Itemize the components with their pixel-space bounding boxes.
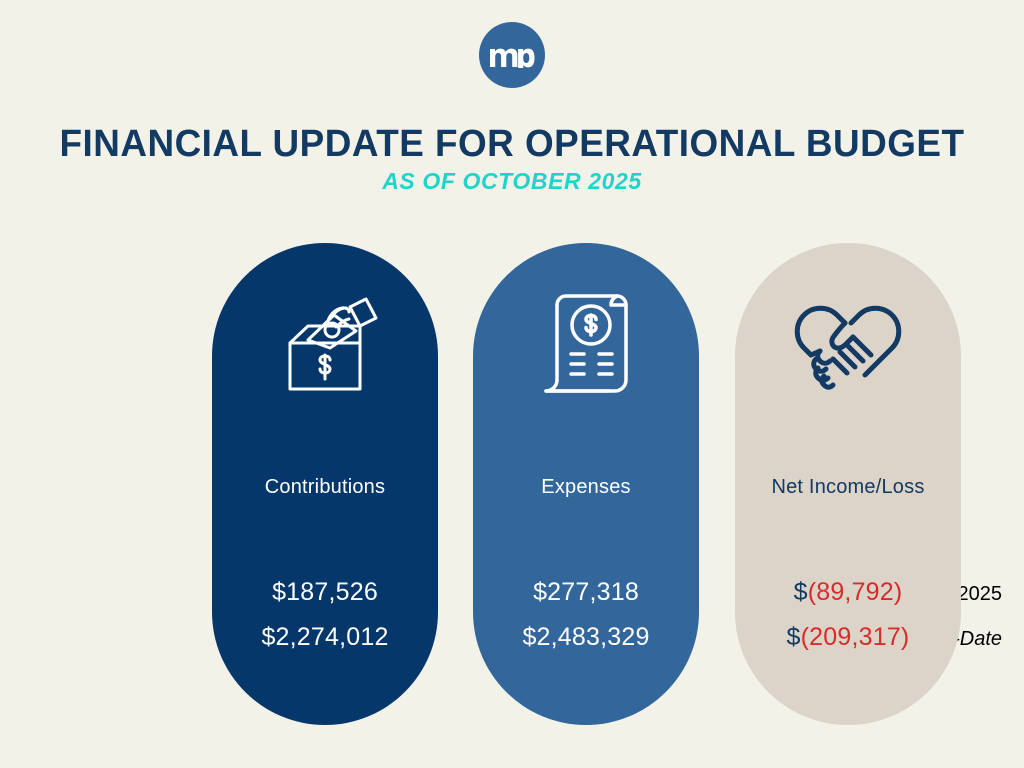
metric-columns: Contributions $187,526 $2,274,012 [0,243,1024,725]
metric-label-net-income: Net Income/Loss [735,476,961,499]
metric-value-net-income-ytd: $(209,317) [735,623,961,652]
metric-value-contributions-ytd: $2,274,012 [212,623,438,652]
metric-value-expenses-october: $277,318 [473,578,699,607]
donation-box-hand-icon [212,281,438,406]
page-title: FINANCIAL UPDATE FOR OPERATIONAL BUDGET [15,125,1008,165]
negative-amount: (89,792) [808,578,903,606]
metric-value-net-income-october: $(89,792) [735,578,961,607]
mpc-logo-circle [479,22,545,88]
currency-symbol: $ [794,578,808,606]
handshake-heart-icon [735,281,961,406]
metric-column-expenses: Expenses $277,318 $2,483,329 [473,243,699,725]
negative-amount: (209,317) [801,623,910,651]
metric-label-contributions: Contributions [212,476,438,499]
metric-value-expenses-ytd: $2,483,329 [473,623,699,652]
brand-logo [0,22,1024,88]
metric-value-contributions-october: $187,526 [212,578,438,607]
header: FINANCIAL UPDATE FOR OPERATIONAL BUDGET … [0,125,1024,194]
currency-symbol: $ [787,623,801,651]
invoice-receipt-dollar-icon [473,281,699,406]
metric-column-contributions: Contributions $187,526 $2,274,012 [212,243,438,725]
metric-column-net-income: Net Income/Loss $(89,792) $(209,317) [735,243,961,725]
metric-label-expenses: Expenses [473,476,699,499]
page-subtitle: AS OF OCTOBER 2025 [0,169,1024,194]
